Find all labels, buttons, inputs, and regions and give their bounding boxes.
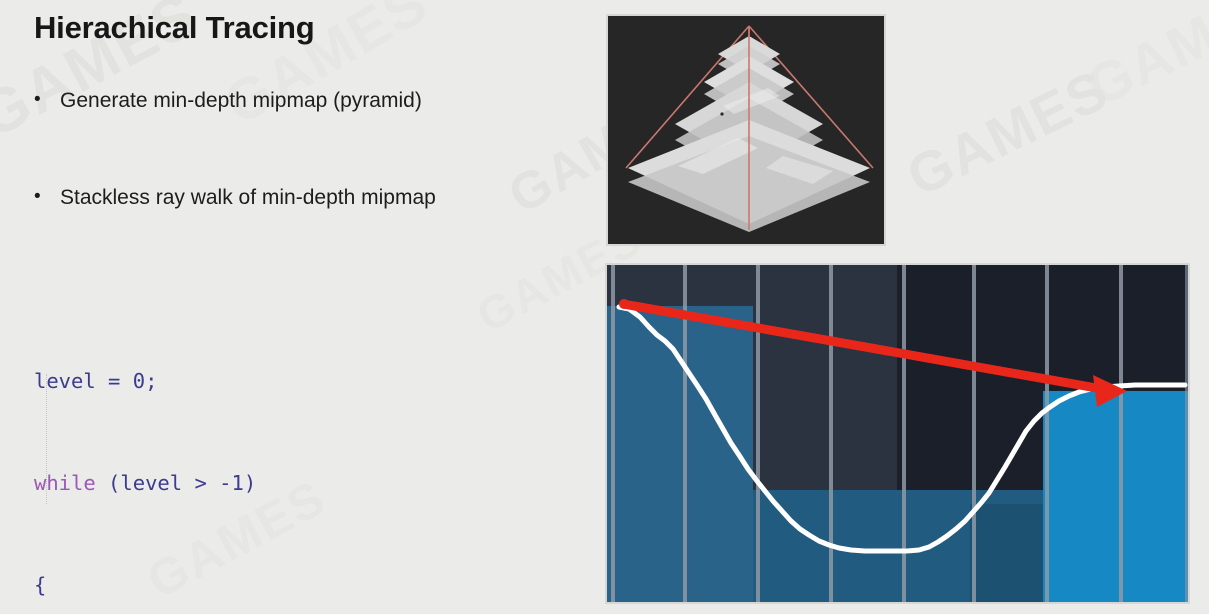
code-token-number: 0;	[133, 369, 158, 393]
code-line: {	[34, 568, 417, 602]
bullet-text: Generate min-depth mipmap (pyramid)	[60, 88, 422, 114]
bullet-item: • Stackless ray walk of min-depth mipmap	[34, 185, 436, 211]
bullet-marker: •	[34, 88, 60, 112]
watermark: GAMES	[897, 56, 1119, 209]
pyramid-svg	[608, 16, 886, 246]
bullet-text: Stackless ray walk of min-depth mipmap	[60, 185, 436, 211]
mipmap-ray-walk-figure	[605, 263, 1190, 604]
code-token-keyword: while	[34, 471, 96, 495]
page-title: Hierachical Tracing	[34, 10, 315, 46]
watermark: GAMES	[1077, 0, 1209, 119]
bullet-item: • Generate min-depth mipmap (pyramid)	[34, 88, 422, 114]
mipmap-walk-svg	[607, 265, 1190, 604]
code-block: level = 0; while (level > -1) { stepCurr…	[34, 296, 417, 614]
code-token-operator: =	[96, 369, 133, 393]
code-line: while (level > -1)	[34, 466, 417, 500]
mipmap-pyramid-figure	[606, 14, 886, 246]
code-line: level = 0;	[34, 364, 417, 398]
code-token-condition: (level > -1)	[96, 471, 256, 495]
code-token-brace: {	[34, 573, 46, 597]
slide: GAMES GAMES GAMES GAMES GAMES GAMES GAME…	[0, 0, 1209, 614]
code-token-identifier: level	[34, 369, 96, 393]
bullet-marker: •	[34, 185, 60, 209]
